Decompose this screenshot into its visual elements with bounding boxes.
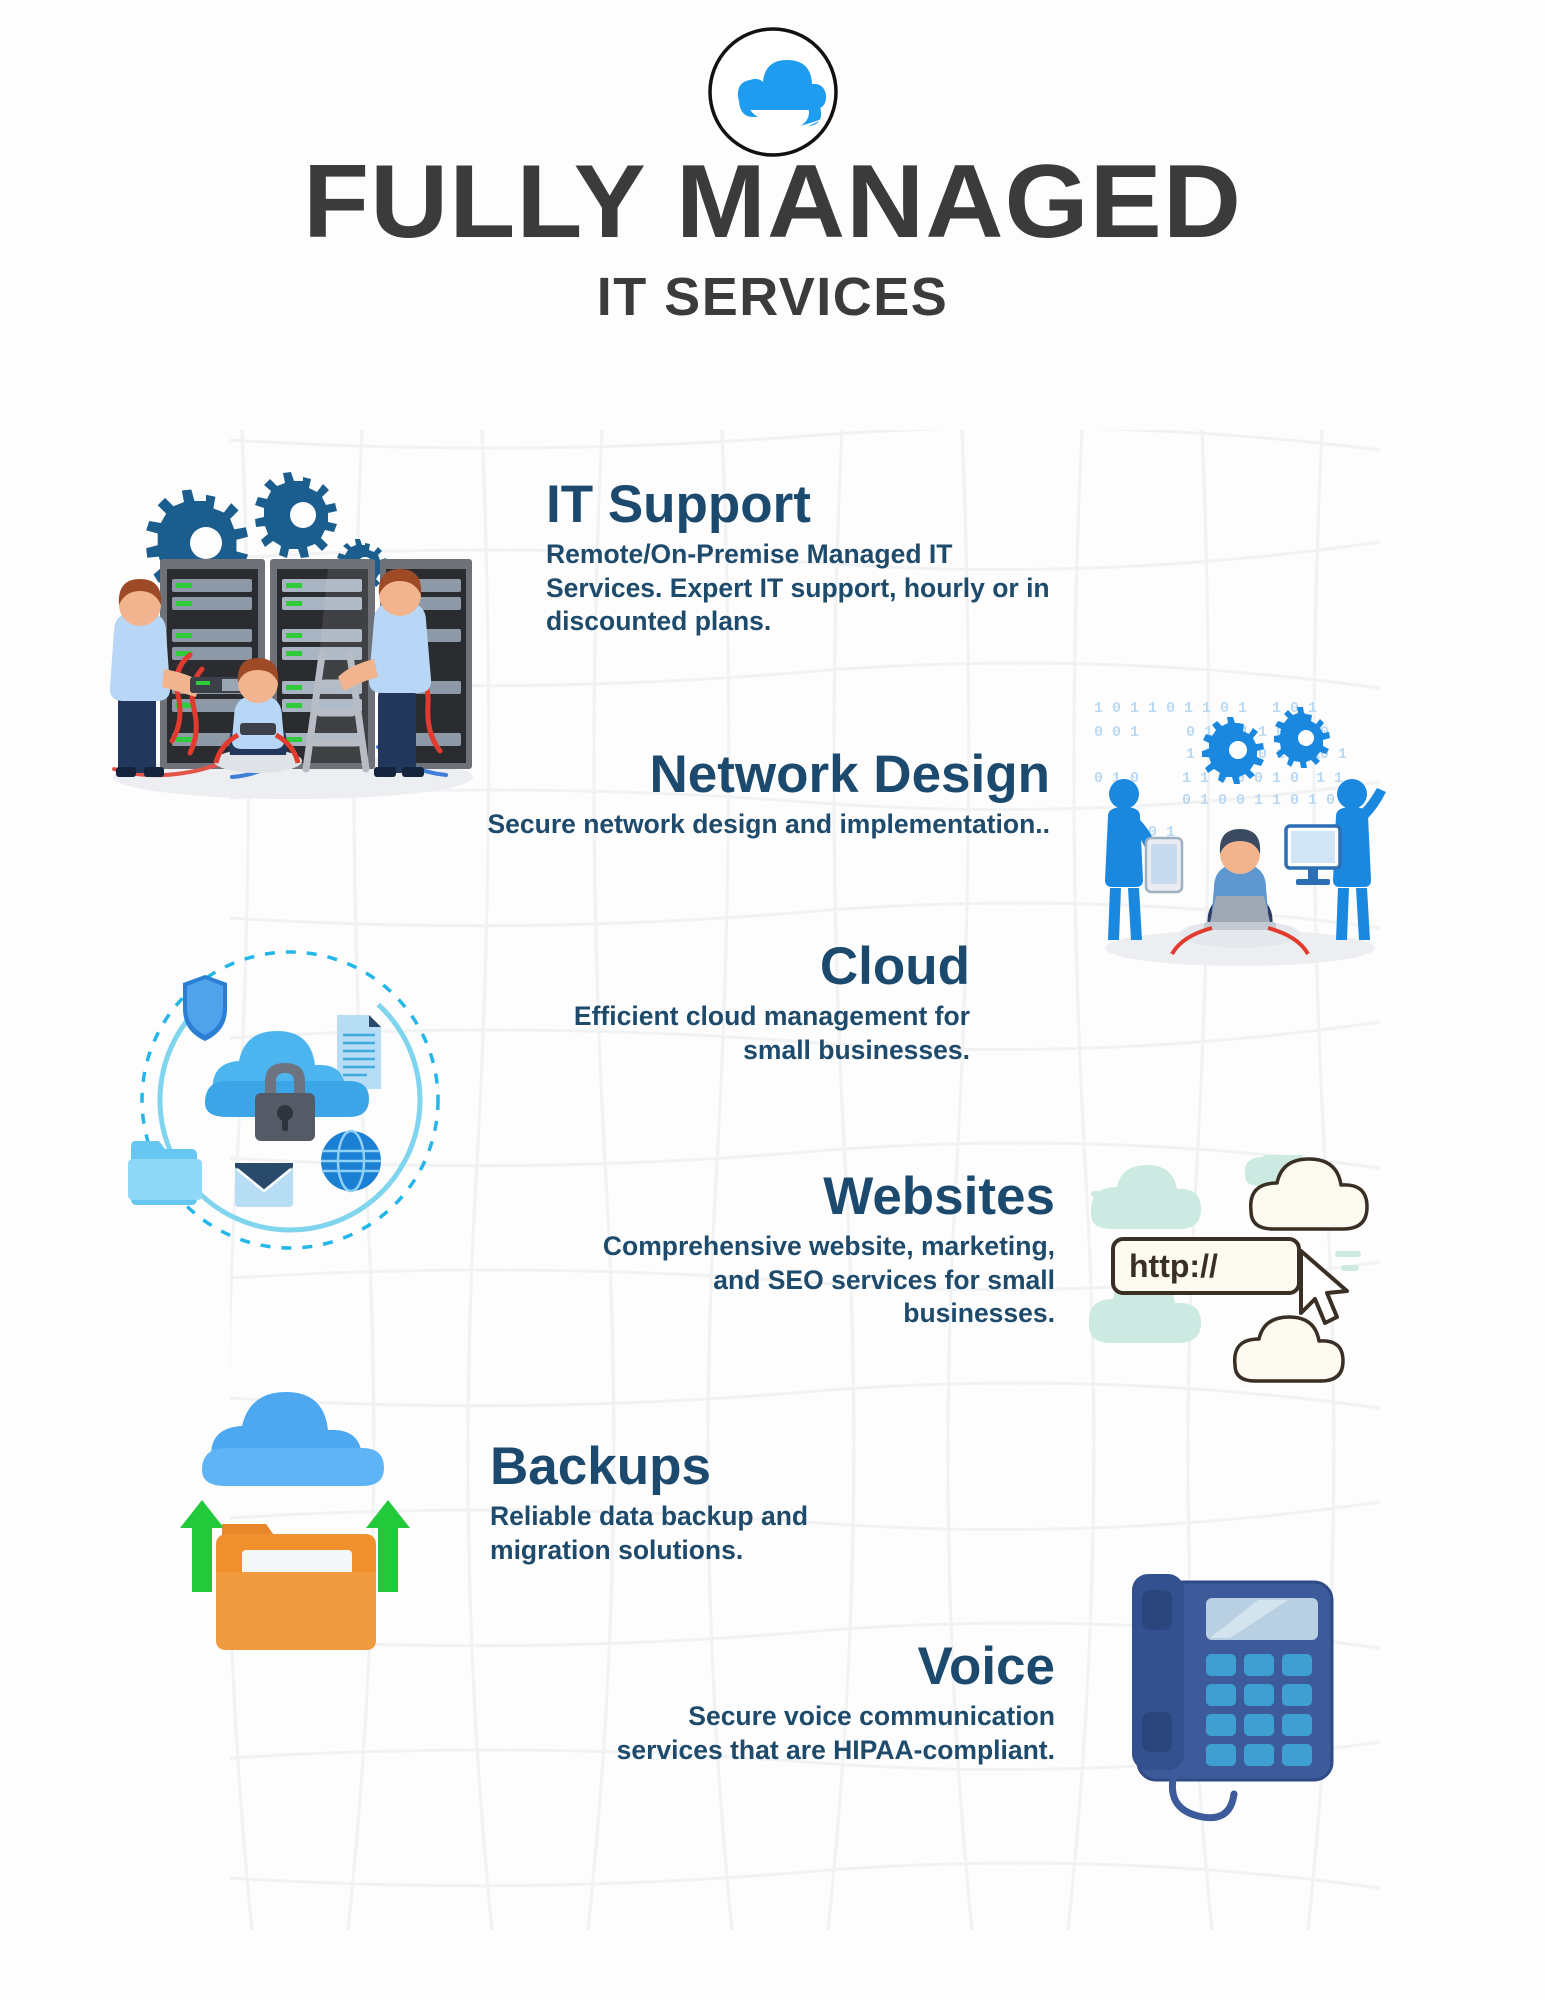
service-block-it-support: IT Support Remote/On-Premise Managed IT … bbox=[546, 478, 1066, 639]
service-title-backups: Backups bbox=[490, 1440, 890, 1494]
service-desc-backups: Reliable data backup and migration solut… bbox=[490, 1500, 890, 1567]
service-title-websites: Websites bbox=[600, 1170, 1055, 1224]
service-title-network: Network Design bbox=[480, 748, 1050, 802]
svg-text:1 0 1 1 0 1 1 0 1: 1 0 1 1 0 1 1 0 1 bbox=[1094, 700, 1247, 717]
cloud-security-lock-icon bbox=[125, 935, 455, 1265]
server-room-technicians-gears-icon bbox=[78, 455, 508, 805]
page-title: FULLY MANAGED bbox=[0, 150, 1545, 254]
service-block-websites: Websites Comprehensive website, marketin… bbox=[600, 1170, 1055, 1331]
service-desc-voice: Secure voice communication services that… bbox=[600, 1700, 1055, 1767]
svg-text:0 0 1: 0 0 1 bbox=[1094, 724, 1139, 741]
svg-text:0 1 0 0 1 1 0 1 0: 0 1 0 0 1 1 0 1 0 bbox=[1182, 792, 1335, 809]
cloud-folder-upload-arrows-icon bbox=[160, 1370, 430, 1660]
cloud-in-circle-logo-icon bbox=[698, 22, 848, 162]
service-block-voice: Voice Secure voice communication service… bbox=[600, 1640, 1055, 1767]
service-desc-websites: Comprehensive website, marketing, and SE… bbox=[600, 1230, 1055, 1331]
service-desc-it-support: Remote/On-Premise Managed IT Services. E… bbox=[546, 538, 1066, 639]
service-desc-network: Secure network design and implementation… bbox=[480, 808, 1050, 842]
binary-code-workers-devices-icon: 1 0 1 1 0 1 1 0 1 1 0 1 0 0 1 0 1 0 1 1 … bbox=[1090, 690, 1390, 970]
http-url-bar-cursor-clouds-icon: http:// bbox=[1085, 1155, 1375, 1385]
service-block-backups: Backups Reliable data backup and migrati… bbox=[490, 1440, 890, 1567]
svg-text:1 1: 1 1 bbox=[1316, 770, 1343, 787]
infographic-poster: FULLY MANAGED IT SERVICES bbox=[0, 0, 1545, 2000]
service-title-it-support: IT Support bbox=[546, 478, 1066, 532]
desk-telephone-icon bbox=[1110, 1560, 1360, 1850]
service-title-voice: Voice bbox=[600, 1640, 1055, 1694]
service-title-cloud: Cloud bbox=[520, 940, 970, 994]
service-block-cloud: Cloud Efficient cloud management for sma… bbox=[520, 940, 970, 1067]
brand-logo bbox=[698, 22, 848, 162]
service-desc-cloud: Efficient cloud management for small bus… bbox=[520, 1000, 970, 1067]
service-block-network: Network Design Secure network design and… bbox=[480, 748, 1050, 842]
url-label: http:// bbox=[1129, 1248, 1218, 1284]
page-subtitle: IT SERVICES bbox=[0, 266, 1545, 328]
